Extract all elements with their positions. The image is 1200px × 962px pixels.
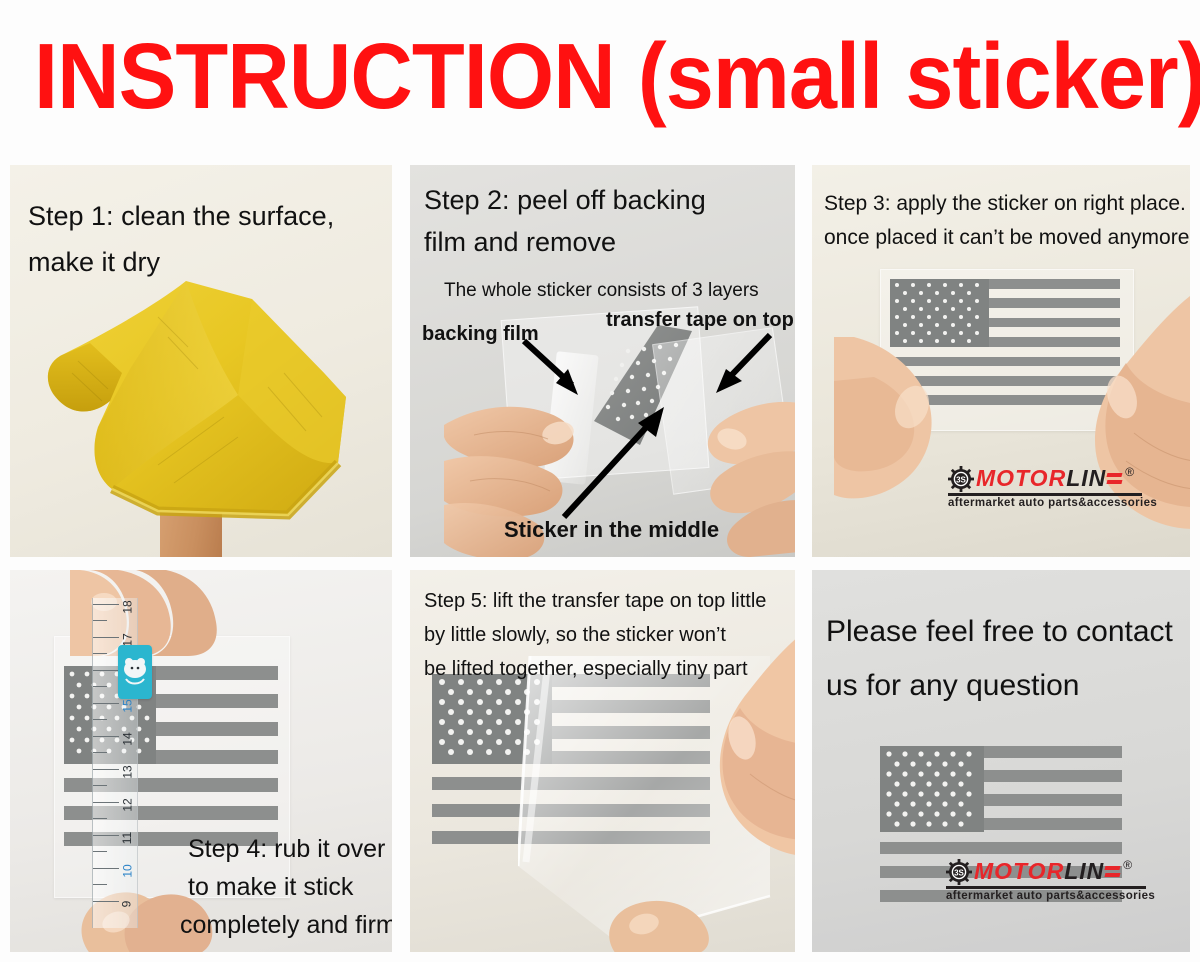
left-hand	[834, 337, 964, 547]
arrow-backing-film	[522, 337, 592, 405]
panel-step6: Please feel free to contact us for any q…	[812, 570, 1190, 952]
step4-caption-line1: Step 4: rub it over	[188, 832, 385, 866]
equals-mark-icon	[1105, 861, 1120, 883]
panel-step1: Step 1: clean the surface, make it dry	[10, 165, 392, 557]
registered-mark: ®	[1123, 858, 1132, 872]
ruler-cartoon-label	[118, 645, 152, 699]
ruler-number-9: 9	[119, 901, 133, 908]
step5-caption-line2: by little slowly, so the sticker won’t	[424, 620, 726, 651]
logo-brand-dark: LIN	[1066, 465, 1106, 492]
logo-brand-red: MOTOR	[976, 465, 1066, 492]
title-bar: INSTRUCTION (small sticker)	[0, 0, 1200, 152]
step2-subcaption: The whole sticker consists of 3 layers	[444, 275, 759, 306]
step2-caption-line2: film and remove	[424, 221, 616, 263]
step2-caption-line1: Step 2: peel off backing	[424, 179, 706, 221]
step3-caption-line1: Step 3: apply the sticker on right place…	[824, 187, 1186, 221]
step1-caption-line2: make it dry	[28, 241, 160, 283]
step6-caption-line1: Please feel free to contact	[826, 606, 1173, 658]
ruler-number-12: 12	[121, 798, 135, 811]
brand-logo: 3S MOTOR LIN ® aftermarket auto parts&ac…	[948, 465, 1157, 509]
panel-step5: Step 5: lift the transfer tape on top li…	[410, 570, 795, 952]
annotation-transfer-tape: transfer tape on top	[606, 309, 794, 332]
step6-caption-line2: us for any question	[826, 660, 1080, 712]
svg-text:3S: 3S	[956, 475, 966, 484]
page-title: INSTRUCTION (small sticker)	[34, 30, 1200, 123]
gear-icon: 3S	[946, 859, 972, 885]
panel-step3: Step 3: apply the sticker on right place…	[812, 165, 1190, 557]
panel-step2: Step 2: peel off backing film and remove…	[410, 165, 795, 557]
step5-caption-line3: be lifted together, especially tiny part	[424, 654, 748, 685]
yellow-microfiber-cloth	[38, 277, 360, 525]
step3-caption-line2: once placed it can’t be moved anymore	[824, 221, 1189, 255]
annotation-sticker-middle: Sticker in the middle	[504, 517, 719, 543]
logo-tagline: aftermarket auto parts&accessories	[948, 497, 1157, 509]
step5-caption-line1: Step 5: lift the transfer tape on top li…	[424, 586, 766, 617]
instruction-sheet: INSTRUCTION (small sticker)	[0, 0, 1200, 962]
arrow-sticker-middle	[560, 403, 670, 521]
ruler-number-18: 18	[121, 600, 135, 613]
svg-text:3S: 3S	[954, 868, 964, 877]
flag-stars	[880, 746, 984, 832]
ruler-number-15: 15	[121, 699, 135, 712]
ruler-number-11: 11	[120, 832, 134, 844]
arrow-transfer-tape	[698, 331, 774, 407]
registered-mark: ®	[1125, 465, 1134, 479]
brand-logo: 3S MOTOR LIN ® aftermarket auto parts&ac…	[946, 858, 1155, 902]
ruler-number-13: 13	[121, 765, 135, 778]
bottom-hand	[596, 894, 726, 952]
ruler-number-14: 14	[121, 732, 135, 745]
step1-caption-line1: Step 1: clean the surface,	[28, 195, 334, 237]
step4-caption-line2: to make it stick	[188, 870, 353, 904]
gear-icon: 3S	[948, 466, 974, 492]
annotation-backing-film: backing film	[422, 323, 539, 346]
logo-brand-red: MOTOR	[974, 858, 1064, 885]
ruler-number-10: 10	[121, 864, 135, 877]
logo-brand-dark: LIN	[1064, 858, 1104, 885]
step4-caption-line3: completely and firmly	[180, 908, 392, 942]
logo-divider	[948, 493, 1142, 496]
equals-mark-icon	[1107, 468, 1122, 490]
panel-step4: Step 4: rub it over to make it stick com…	[10, 570, 392, 952]
logo-tagline: aftermarket auto parts&accessories	[946, 890, 1155, 902]
logo-divider	[946, 886, 1146, 889]
